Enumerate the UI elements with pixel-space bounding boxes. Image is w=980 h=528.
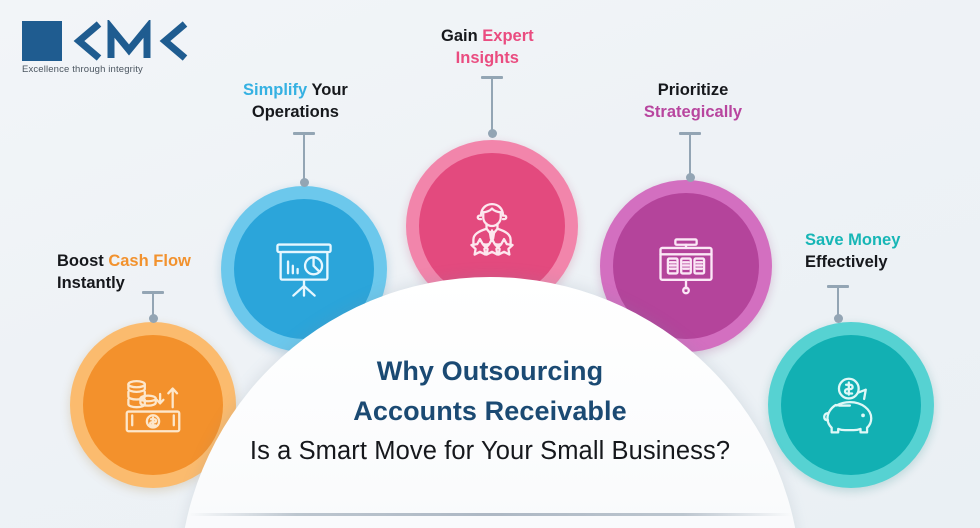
label-prioritize: Prioritize Strategically (643, 80, 743, 124)
pin-dot (834, 314, 843, 323)
pin-dot (686, 173, 695, 182)
label-simplify: Simplify Your Operations (243, 80, 348, 124)
label-part: Gain (441, 27, 482, 45)
circle-save-money[interactable] (768, 322, 934, 488)
label-line: Operations (243, 102, 348, 124)
pin-stem (689, 135, 692, 174)
presentation-chart-icon (270, 235, 338, 303)
label-line: Insights (441, 48, 534, 70)
expert-rating-icon (457, 191, 527, 261)
label-part-accent: Insights (456, 49, 519, 67)
label-part: Your (311, 81, 347, 99)
label-cash-flow: Boost Cash Flow Instantly (57, 251, 191, 295)
pin-stem-wrap (827, 288, 849, 315)
connector-pin-save-money (827, 285, 849, 323)
label-part-accent: Expert (482, 27, 533, 45)
logo-row (22, 20, 202, 62)
label-line: Simplify Your (243, 80, 348, 102)
label-save-money: Save Money Effectively (805, 230, 900, 274)
brand-logo: Excellence through integrity (22, 20, 202, 82)
label-line: Instantly (57, 273, 191, 295)
title-line-3: Is a Smart Move for Your Small Business? (190, 432, 790, 470)
logo-square-icon (22, 21, 62, 61)
kanban-board-icon (652, 232, 720, 300)
kmk-wordmark-icon (69, 20, 195, 62)
label-line: Strategically (643, 102, 743, 124)
dome-baseline-divider (188, 513, 792, 516)
pin-stem (837, 288, 840, 315)
connector-pin-expert (481, 76, 503, 138)
pin-stem-wrap (293, 135, 315, 179)
label-line: Prioritize (643, 80, 743, 102)
label-part: Prioritize (658, 81, 729, 99)
title-line-1: Why Outsourcing (190, 352, 790, 392)
pin-stem (152, 294, 155, 315)
connector-pin-cash-flow (142, 291, 164, 323)
brand-tagline: Excellence through integrity (22, 64, 202, 75)
title-line-2: Accounts Receivable (190, 392, 790, 432)
label-part: Operations (252, 103, 339, 121)
infographic-canvas: Excellence through integrity (0, 0, 980, 528)
pin-stem-wrap (679, 135, 701, 174)
pin-dot (300, 178, 309, 187)
pin-dot (149, 314, 158, 323)
connector-pin-simplify (293, 132, 315, 187)
piggy-bank-icon (816, 370, 886, 440)
label-expert: Gain Expert Insights (441, 26, 534, 70)
label-part-accent: Save Money (805, 231, 900, 249)
label-line: Save Money (805, 230, 900, 252)
label-part: Boost (57, 252, 108, 270)
pin-stem-wrap (481, 79, 503, 130)
label-part: Instantly (57, 274, 125, 292)
label-line: Gain Expert (441, 26, 534, 48)
connector-pin-prioritize (679, 132, 701, 182)
label-part: Effectively (805, 253, 888, 271)
pin-dot (488, 129, 497, 138)
page-title: Why Outsourcing Accounts Receivable Is a… (190, 352, 790, 470)
label-part-accent: Cash Flow (108, 252, 191, 270)
label-line: Effectively (805, 252, 900, 274)
money-growth-icon (118, 370, 188, 440)
label-line: Boost Cash Flow (57, 251, 191, 273)
pin-stem (303, 135, 306, 179)
label-part-accent: Simplify (243, 81, 311, 99)
pin-stem (491, 79, 494, 130)
label-part-accent: Strategically (644, 103, 742, 121)
pin-stem-wrap (142, 294, 164, 315)
